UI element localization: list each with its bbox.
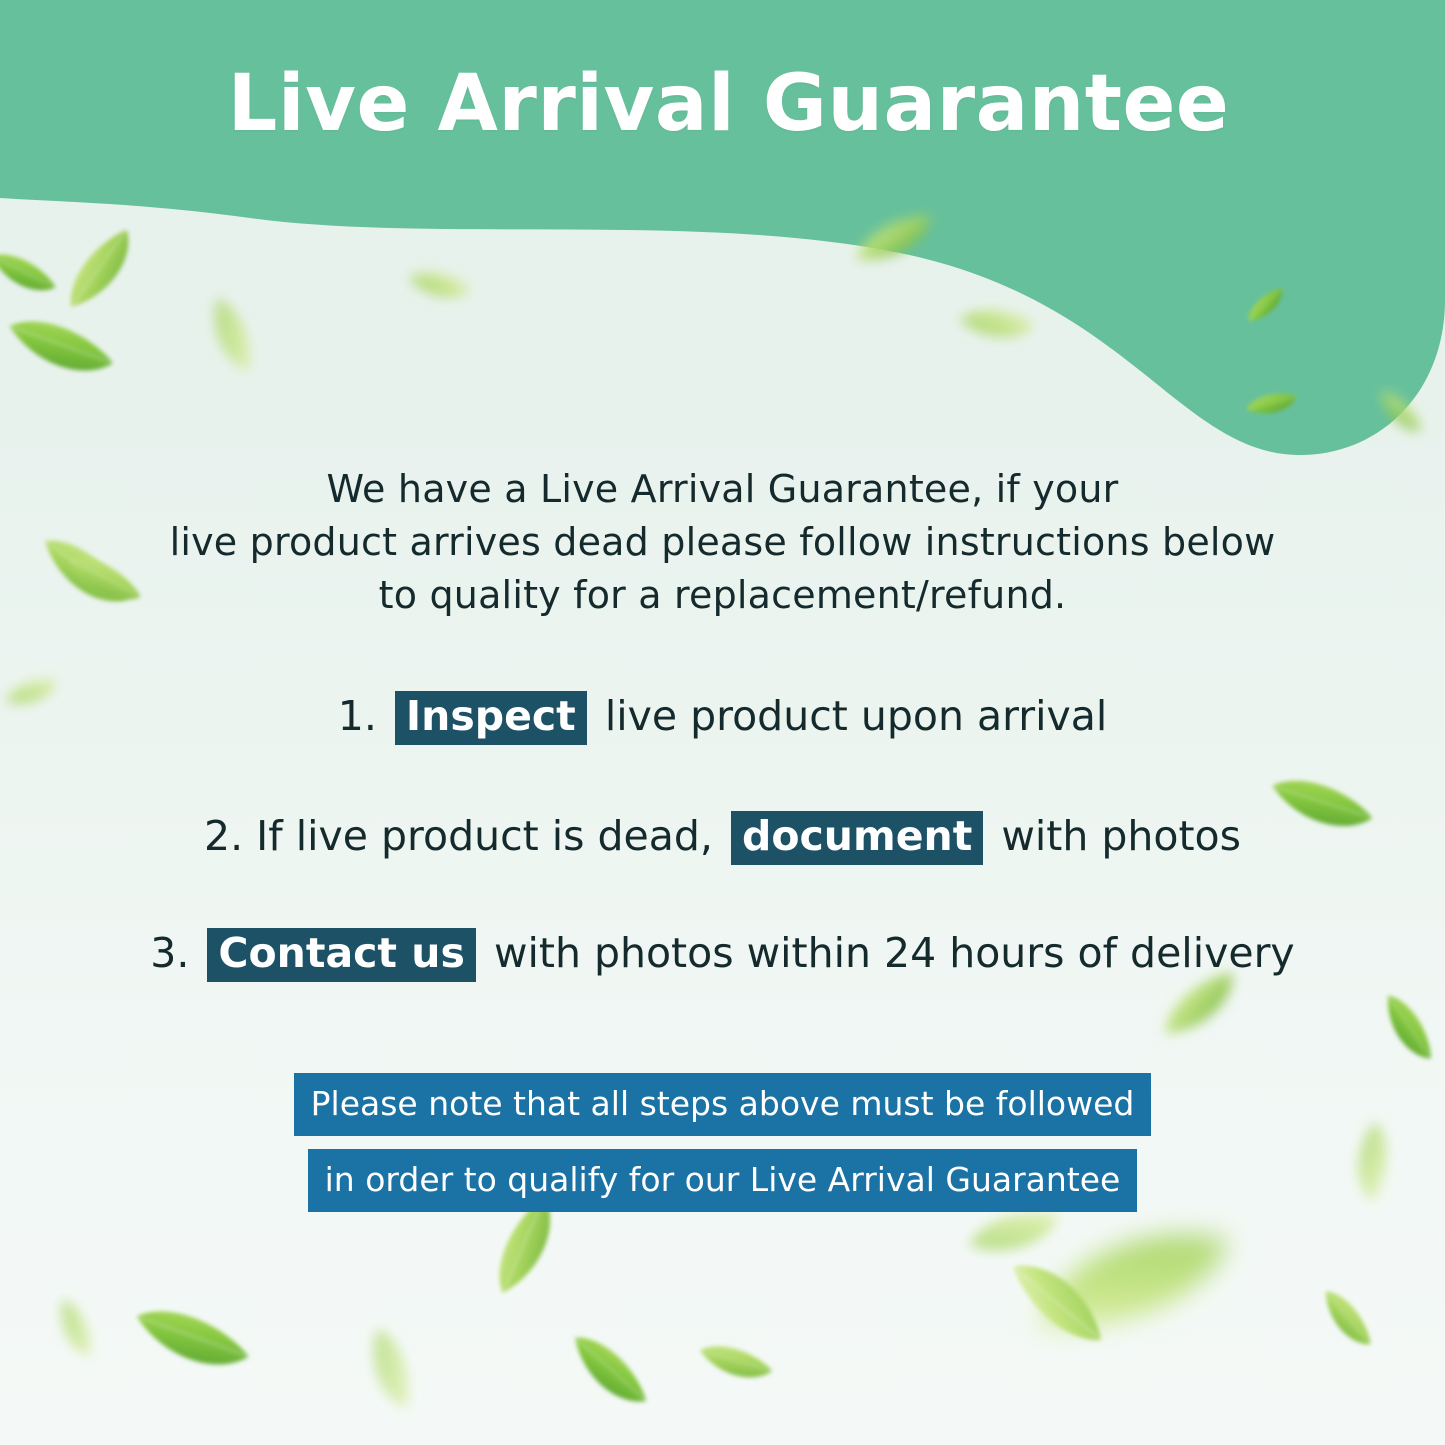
step-highlight-document: document	[731, 811, 983, 865]
page-title: Live Arrival Guarantee	[0, 62, 1445, 146]
intro-line-1: We have a Live Arrival Guarantee, if you…	[0, 463, 1445, 516]
intro-line-2: live product arrives dead please follow …	[0, 516, 1445, 569]
intro-line-3: to quality for a replacement/refund.	[0, 569, 1445, 622]
step-item-3: 3.Contact us with photos within 24 hours…	[0, 928, 1445, 982]
note-line-1: Please note that all steps above must be…	[294, 1073, 1152, 1136]
step-text-3-after: with photos within 24 hours of delivery	[481, 929, 1295, 977]
step-item-2: 2.If live product is dead, document with…	[0, 811, 1445, 865]
step-item-1: 1.Inspect live product upon arrival	[0, 691, 1445, 745]
step-number-2: 2.	[204, 812, 243, 860]
step-text-2-before: If live product is dead,	[256, 812, 726, 860]
step-number-1: 1.	[338, 692, 377, 740]
note-block: Please note that all steps above must be…	[0, 1073, 1445, 1212]
step-text-1-after: live product upon arrival	[592, 692, 1107, 740]
step-highlight-inspect: Inspect	[395, 691, 587, 745]
note-line-2: in order to qualify for our Live Arrival…	[308, 1149, 1138, 1212]
step-number-3: 3.	[150, 929, 189, 977]
intro-paragraph: We have a Live Arrival Guarantee, if you…	[0, 463, 1445, 622]
live-arrival-guarantee-poster: Live Arrival Guarantee We have a Live Ar…	[0, 0, 1445, 1445]
main-content: We have a Live Arrival Guarantee, if you…	[0, 0, 1445, 1445]
step-highlight-contact-us: Contact us	[207, 928, 475, 982]
note-gap	[0, 1136, 1445, 1149]
step-text-2-after: with photos	[988, 812, 1241, 860]
